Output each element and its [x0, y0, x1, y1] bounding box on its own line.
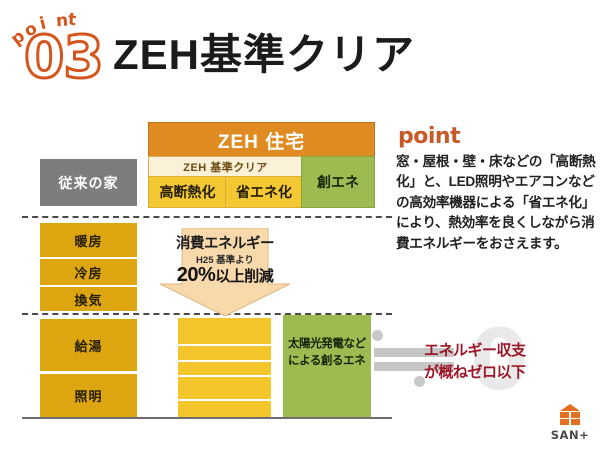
- house-pane-1: [560, 412, 569, 418]
- zeh-bar-segment: [178, 362, 271, 375]
- divider-top: [22, 216, 392, 218]
- house-roof-shape: [560, 404, 580, 411]
- zeh-bar-segment: [178, 346, 271, 360]
- house-pane-3: [560, 419, 569, 425]
- conventional-bar-segment: 給湯: [40, 319, 137, 371]
- brand-name: SAN+: [548, 428, 592, 442]
- create-energy-label-line1: 太陽光発電など: [288, 336, 372, 353]
- balance-dot-upper: [372, 330, 383, 341]
- house-pane-2: [571, 412, 580, 418]
- conventional-bar-segment: 照明: [40, 374, 137, 417]
- zeh-cell-saving: 省エネ化: [225, 176, 303, 208]
- brand-logo: SAN+: [548, 404, 592, 444]
- chart-baseline: [22, 417, 392, 419]
- balance-line1: エネルギー収支: [424, 340, 599, 362]
- zeh-house-header: ZEH 住宅: [148, 122, 375, 158]
- balance-line2: が概ねゼロ以下: [424, 362, 599, 384]
- house-pane-4: [571, 419, 580, 425]
- page-title: ZEH基準クリア: [113, 34, 415, 76]
- create-energy-label: 太陽光発電など による創るエネ: [288, 336, 372, 369]
- conventional-house-header: 従来の家: [40, 159, 137, 206]
- create-energy-label-line2: による創るエネ: [288, 353, 372, 370]
- arrow-line1: 消費エネルギー: [160, 232, 290, 253]
- right-panel-body: 窓・屋根・壁・床などの「高断熱化」と、LED照明やエアコンなどの高効率機器による…: [396, 152, 596, 254]
- zeh-cell-insulation: 高断熱化: [148, 176, 227, 208]
- infographic-root: p o i n t 03 ZEH基準クリア point 窓・屋根・壁・床などの「…: [0, 0, 600, 450]
- arrow-line3: 20%以上削減: [160, 264, 290, 287]
- arrow-reduction-rest: 以上削減: [215, 268, 273, 285]
- house-icon: [557, 404, 583, 426]
- reduction-arrow: 消費エネルギー H25 基準より 20%以上削減: [160, 228, 290, 316]
- zeh-bar-segment: [178, 401, 271, 417]
- conventional-bar-segment: 換気: [40, 287, 137, 311]
- balance-text: エネルギー収支 が概ねゼロ以下: [424, 340, 599, 384]
- zeh-bar-segment: [178, 318, 271, 344]
- zeh-cell-create: 創エネ: [301, 156, 375, 208]
- right-panel-heading: point: [398, 124, 460, 149]
- zeh-bar-segment: [178, 377, 271, 399]
- zeh-standard-band: ZEH 基準クリア: [148, 156, 303, 178]
- point-number: 03: [24, 28, 103, 86]
- conventional-bar-segment: 冷房: [40, 259, 137, 285]
- conventional-bar-segment: 暖房: [40, 223, 137, 257]
- arrow-reduction-value: 20%: [177, 264, 216, 286]
